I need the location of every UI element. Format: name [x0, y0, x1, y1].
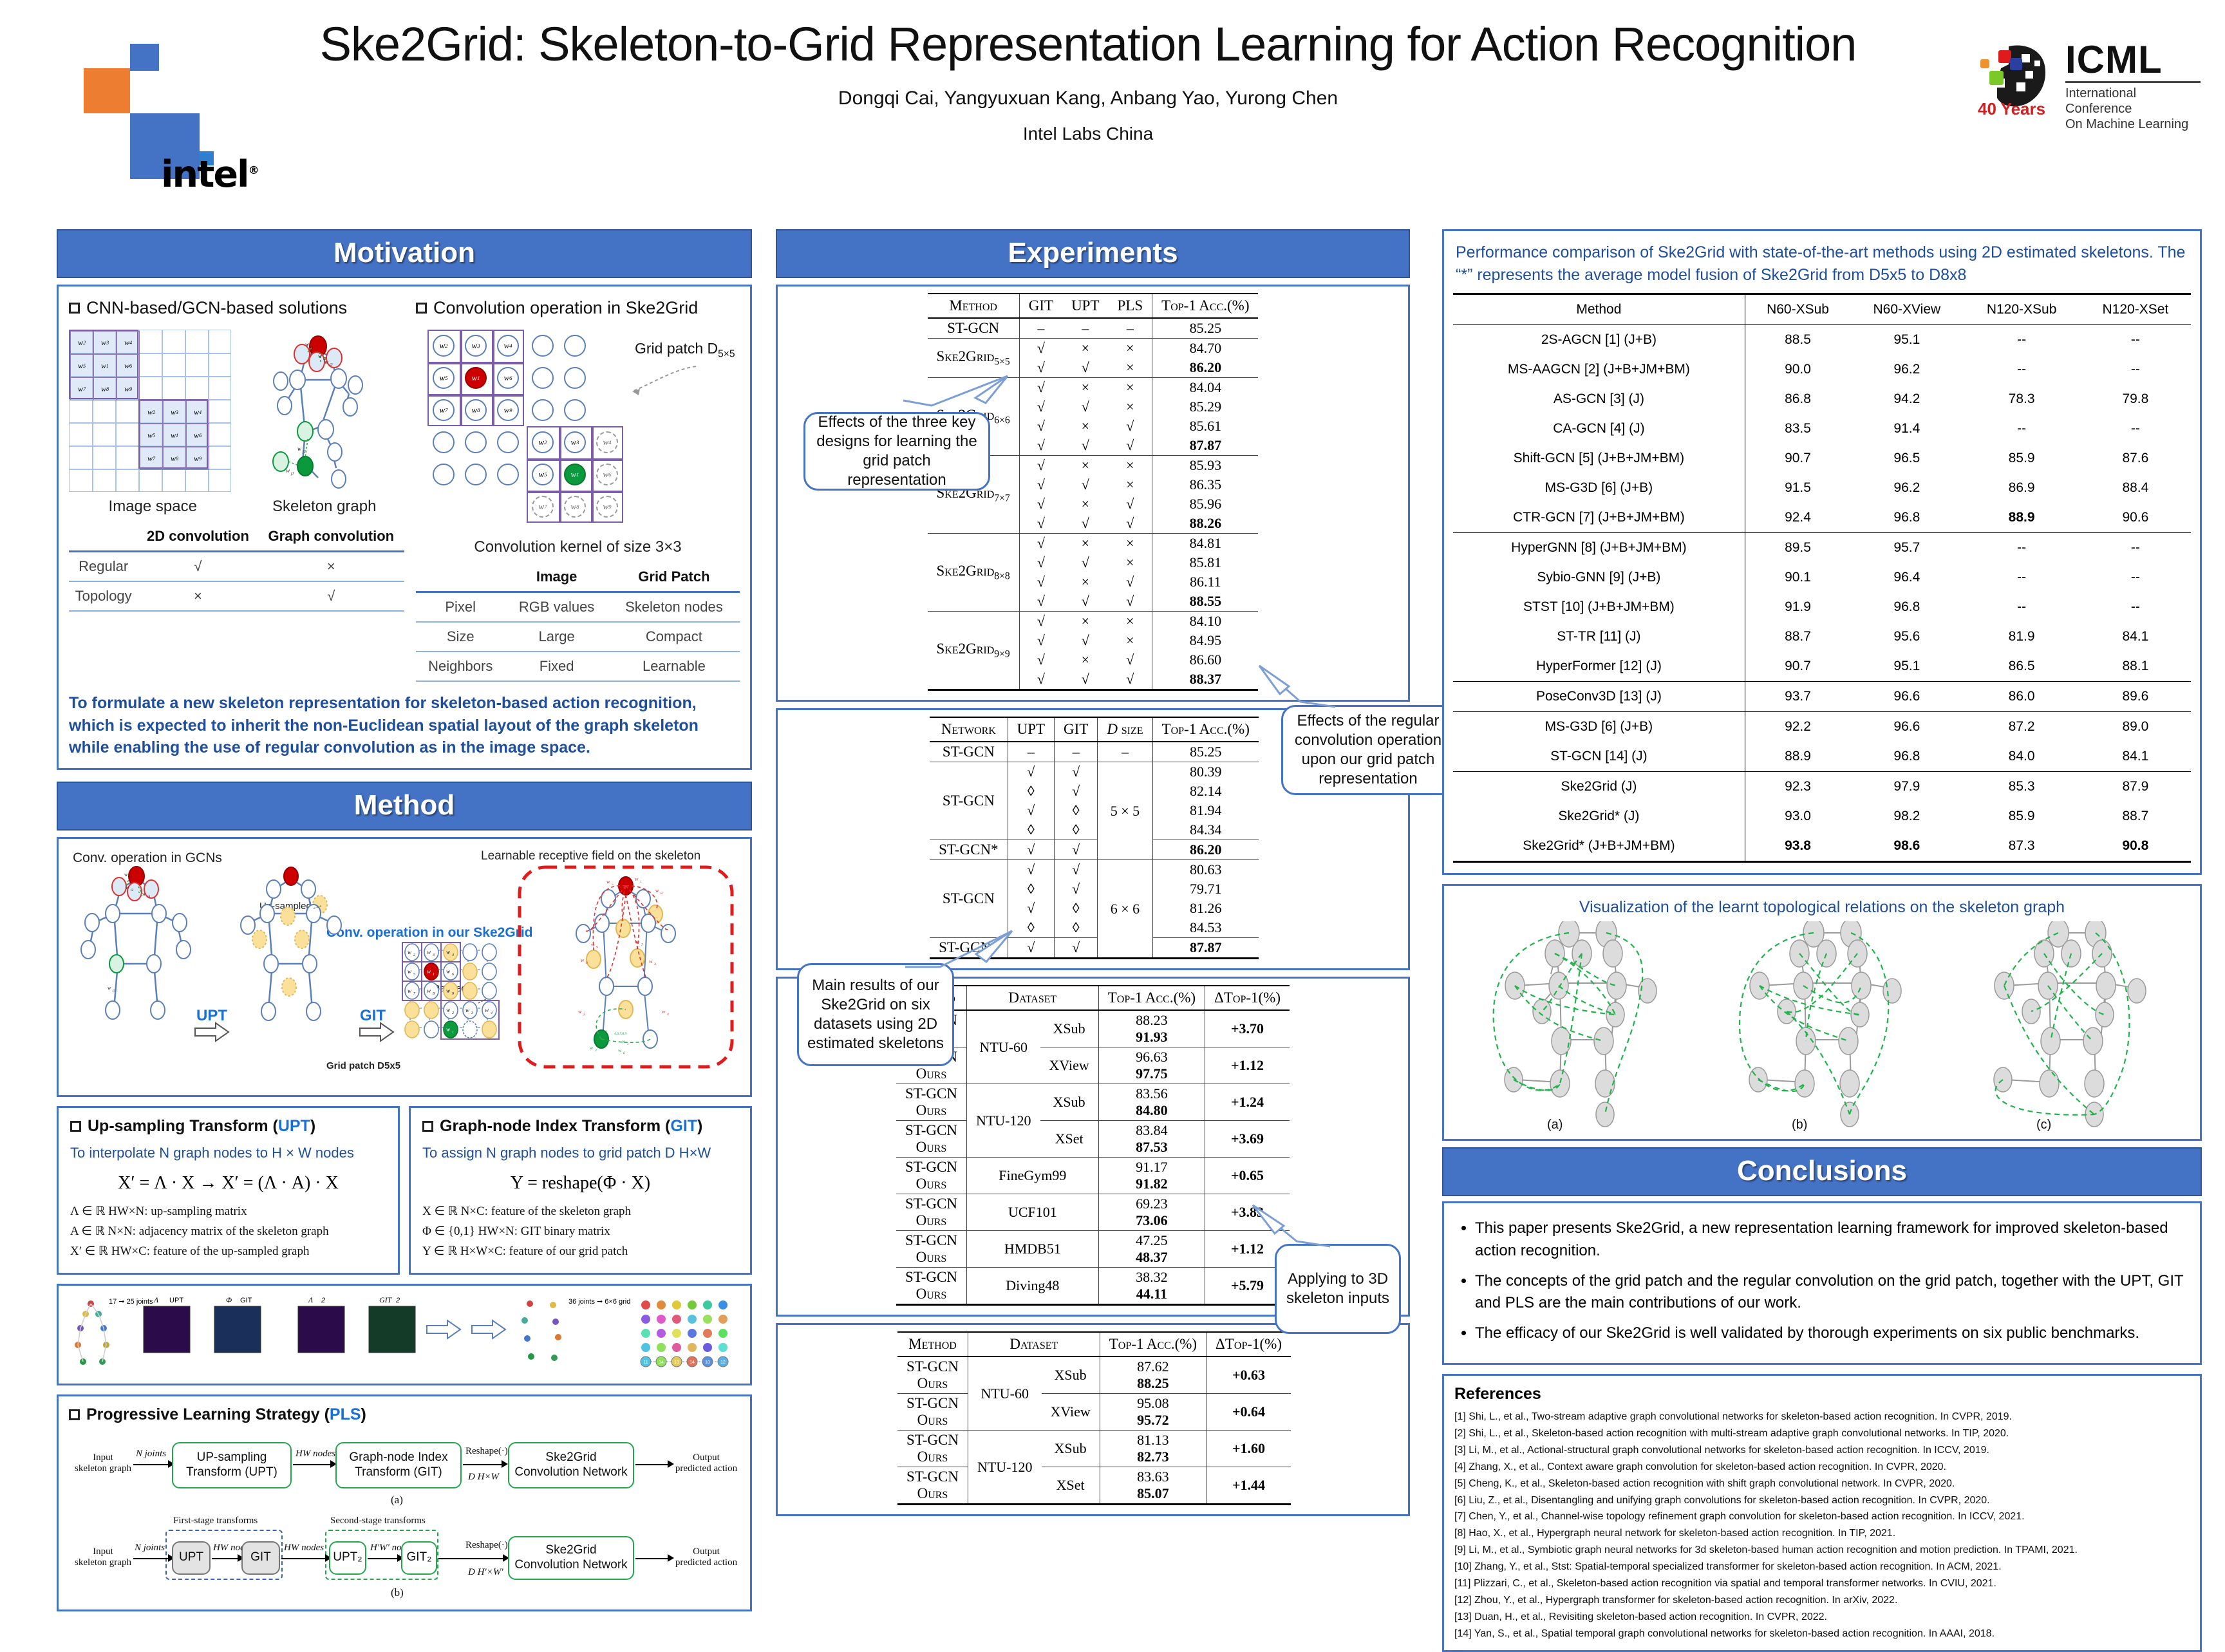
table-row: ST-GCNOursNTU-120XSub83.5684.80+1.24 — [896, 1084, 1290, 1121]
svg-text:w: w — [124, 872, 128, 878]
cell: Size — [416, 622, 505, 652]
svg-text:j2: j2 — [112, 989, 116, 993]
cell-acc: 85.25 — [1152, 318, 1259, 339]
cell-acc: 88.37 — [1152, 670, 1259, 689]
cell-value: 91.5 — [1745, 473, 1850, 503]
section-header-experiments: Experiments — [776, 229, 1410, 278]
cell-value: 95.1 — [1850, 652, 1963, 682]
svg-text:(b): (b) — [1792, 1118, 1807, 1132]
svg-text:w: w — [297, 446, 301, 452]
cell-git: √ — [1019, 475, 1062, 494]
cell-dataset: NTU-120 — [966, 1084, 1040, 1158]
right-column: Performance comparison of Ske2Grid with … — [1442, 229, 2202, 1652]
cell-network: ST-GCN — [930, 742, 1008, 762]
cell-acc: 84.53 — [1152, 918, 1259, 938]
experiments-table4-panel: MethodDatasetTop-1 Acc.(%)ΔTop-1(%)ST-GC… — [776, 1323, 1410, 1516]
sota-comparison-table: MethodN60-XSubN60-XViewN120-XSubN120-XSe… — [1453, 293, 2191, 863]
cell-upt: ◊ — [1008, 782, 1054, 801]
svg-text:w: w — [126, 885, 129, 890]
cell-value: -- — [2080, 533, 2191, 563]
cell-delta: +0.64 — [1206, 1394, 1291, 1431]
cell-value: 88.1 — [2080, 652, 2191, 682]
cell-value: 96.4 — [1850, 563, 1963, 592]
upt-def-0: Λ ∈ ℝ HW×N: up-sampling matrix — [70, 1204, 386, 1219]
cell-dsize: – — [1098, 742, 1152, 762]
pls-a-box-upt: UP-sampling Transform (UPT) — [172, 1442, 292, 1488]
cell-split: XSet — [1042, 1467, 1100, 1504]
grid-line — [492, 330, 494, 426]
svg-text:36 joints ➞ 6×6 grid: 36 joints ➞ 6×6 grid — [568, 1298, 630, 1306]
cell-delta: +1.44 — [1206, 1467, 1291, 1504]
motivation-panel: CNN-based/GCN-based solutions — [57, 285, 752, 770]
table-row: HyperFormer [12] (J)90.795.186.588.1 — [1453, 652, 2191, 682]
cell-value: 86.8 — [1745, 384, 1850, 414]
svg-text:6: 6 — [452, 973, 454, 977]
pls-b-input-1: Input — [93, 1546, 113, 1557]
cell-git: √ — [1019, 339, 1062, 359]
table-row: ST-GCN√√6 × 680.63 — [930, 860, 1259, 880]
cell-value: 96.6 — [1850, 682, 1963, 712]
svg-text:w: w — [622, 1038, 625, 1044]
motivation-left-half: CNN-based/GCN-based solutions — [69, 296, 404, 682]
table-row: 2S-AGCN [1] (J+B)88.595.1---- — [1453, 325, 2191, 355]
table-row: Size Large Compact — [416, 622, 740, 652]
svg-text:w: w — [636, 939, 640, 945]
icml-subtitle-line1: International Conference — [2065, 86, 2201, 117]
cell-acc: 79.71 — [1152, 879, 1259, 899]
svg-text:(c): (c) — [2036, 1118, 2051, 1132]
cell-upt: √ — [1008, 840, 1054, 860]
cell-pls: √ — [1109, 572, 1152, 592]
col-header-2dconv: 2D convolution — [138, 522, 258, 552]
svg-text:w: w — [286, 467, 290, 474]
pls-a-edge3a: Reshape(·) — [465, 1446, 508, 1457]
col-header-method: Method — [1453, 294, 1745, 325]
table-row: Pixel RGB values Skeleton nodes — [416, 592, 740, 623]
col-header-upt: UPT — [1062, 294, 1108, 318]
git-def-0: X ∈ ℝ N×C: feature of the skeleton graph — [422, 1204, 738, 1219]
regular-conv-table: NetworkUPTGITD sizeTop-1 Acc.(%)ST-GCN––… — [930, 717, 1259, 959]
cell-git: √ — [1019, 553, 1062, 572]
reference-item: [11] Plizzari, C., et al., Skeleton-base… — [1454, 1575, 2190, 1592]
square-bullet-icon — [422, 1121, 433, 1132]
upt-heading: Up-sampling Transform (UPT) — [70, 1117, 386, 1136]
cell-value: -- — [2080, 592, 2191, 622]
cell-value: 89.6 — [2080, 682, 2191, 712]
cell-value: 92.2 — [1745, 712, 1850, 742]
transform-strip-panel: 17 ➞ 25 joints Λ UPT Φ GIT Λ 2 GIT 2 — [57, 1284, 752, 1385]
svg-text:8: 8 — [433, 992, 435, 996]
cell-value: 93.7 — [1745, 682, 1850, 712]
pls-b-edge1: N joints — [135, 1543, 165, 1553]
left-column: Motivation CNN-based/GCN-based solutions — [57, 229, 752, 1611]
cell-value: 97.9 — [1850, 772, 1963, 802]
svg-text:17 ➞ 25 joints: 17 ➞ 25 joints — [109, 1298, 153, 1306]
grid-line — [527, 458, 623, 461]
svg-text:Λ: Λ — [153, 1295, 159, 1304]
cell-value: -- — [2080, 325, 2191, 355]
pls-b-output-1: Output — [693, 1546, 720, 1557]
table-row: Shift-GCN [5] (J+B+JM+BM)90.796.585.987.… — [1453, 444, 2191, 473]
table-header-row: MethodN60-XSubN60-XViewN120-XSubN120-XSe… — [1453, 294, 2191, 325]
cell-upt: × — [1062, 417, 1108, 436]
skeleton-svg: wi1 wi2 wi3 wj2 wj1 — [241, 330, 389, 492]
authors: Dongqi Cai, Yangyuxuan Kang, Anbang Yao,… — [219, 88, 1957, 109]
cell: Compact — [608, 622, 740, 652]
svg-text:w: w — [408, 988, 411, 994]
cell-git: √ — [1019, 456, 1062, 476]
cell-acc: 91.1791.82 — [1098, 1158, 1205, 1194]
cell-acc: 86.20 — [1152, 840, 1259, 860]
cell-delta: +0.63 — [1206, 1356, 1291, 1394]
cell-value: 96.8 — [1850, 592, 1963, 622]
cell-pls: × — [1109, 534, 1152, 554]
svg-text:5: 5 — [413, 973, 415, 977]
col-header-pls: PLS — [1109, 294, 1152, 318]
cell-acc: 81.94 — [1152, 801, 1259, 820]
grid-line — [527, 491, 623, 493]
svg-text:10: 10 — [705, 1360, 710, 1365]
page-title: Ske2Grid: Skeleton-to-Grid Representatio… — [219, 19, 1957, 70]
cell-method-baseline: ST-GCNOurs — [897, 1431, 968, 1467]
cell-upt: – — [1008, 742, 1054, 762]
cell-method: Ske2Grid8×8 — [928, 534, 1020, 612]
cell-value: 85.9 — [1963, 444, 2079, 473]
col-header-2: N60-XView — [1850, 294, 1963, 325]
square-bullet-icon — [69, 1409, 80, 1420]
cell-value: 96.6 — [1850, 712, 1963, 742]
reference-item: [13] Duan, H., et al., Revisiting skelet… — [1454, 1609, 2190, 1626]
cell-value: 93.0 — [1745, 802, 1850, 831]
svg-text:j2: j2 — [302, 450, 306, 454]
cell-upt: √ — [1008, 860, 1054, 880]
pls-a-edge3b: D H×W — [468, 1472, 499, 1483]
cell-value: -- — [1963, 592, 2079, 622]
cell-acc: 88.2391.93 — [1098, 1010, 1205, 1047]
section-header-method: Method — [57, 782, 752, 831]
cell-git: √ — [1055, 782, 1098, 801]
cell-upt: × — [1062, 339, 1108, 359]
pls-a-edge2: HW nodes — [296, 1449, 335, 1460]
grid-patch-annotation-sub: 5×5 — [718, 349, 735, 360]
col-header-acc: Top-1 Acc.(%) — [1152, 294, 1259, 318]
intel-logo: intel® — [61, 39, 209, 151]
cell-acc: 83.6385.07 — [1100, 1467, 1206, 1504]
cell-method: HyperGNN [8] (J+B+JM+BM) — [1453, 533, 1745, 563]
reference-item: [4] Zhang, X., et al., Context aware gra… — [1454, 1459, 2190, 1476]
cell-value: 96.5 — [1850, 444, 1963, 473]
cell-pls: – — [1109, 318, 1152, 339]
svg-text:w: w — [581, 957, 585, 963]
svg-text:1: 1 — [640, 880, 642, 884]
cell: Large — [505, 622, 608, 652]
cell-git: √ — [1019, 378, 1062, 398]
table-row: HyperGNN [8] (J+B+JM+BM)89.595.7---- — [1453, 533, 2191, 563]
svg-text:GIT: GIT — [360, 1007, 386, 1024]
pls-a-input-label-2: skeleton graph — [75, 1463, 131, 1474]
cell-value: 96.2 — [1850, 473, 1963, 503]
svg-text:2: 2 — [413, 953, 415, 957]
reference-item: [1] Shi, L., et al., Two-stream adaptive… — [1454, 1409, 2190, 1425]
svg-text:2: 2 — [321, 1297, 325, 1304]
table-row: Ske2Grid* (J+B+JM+BM)93.898.687.390.8 — [1453, 831, 2191, 861]
col-header-network: Network — [930, 717, 1008, 742]
pls-panel: Progressive Learning Strategy (PLS) Inpu… — [57, 1394, 752, 1611]
grid-patch-figure: w2 w3 w4 w1 w5 w6 w7 w8 w9 — [416, 324, 740, 537]
cell-method-baseline: ST-GCNOurs — [896, 1084, 966, 1121]
main-results-3d-table: MethodDatasetTop-1 Acc.(%)ΔTop-1(%)ST-GC… — [897, 1331, 1291, 1505]
cell-delta: +3.69 — [1205, 1121, 1290, 1158]
svg-text:4: 4 — [452, 953, 454, 957]
cell-upt: × — [1062, 494, 1108, 514]
cell: √ — [138, 552, 258, 582]
cell-value: 91.9 — [1745, 592, 1850, 622]
table-row: ST-GCN*√√86.20 — [930, 840, 1259, 860]
motivation-left-figures: w2 w3 w4 w5 w1 w6 w7 w8 w9 — [69, 324, 404, 516]
references-list: [1] Shi, L., et al., Two-stream adaptive… — [1454, 1409, 2190, 1642]
svg-text:3: 3 — [653, 962, 656, 966]
svg-text:9: 9 — [596, 946, 598, 950]
cell-acc: 84.10 — [1152, 612, 1259, 632]
cell-upt: √ — [1008, 762, 1054, 782]
cell-pls: × — [1109, 378, 1152, 398]
cell-value: 90.6 — [2080, 503, 2191, 533]
cell-delta: +1.60 — [1206, 1431, 1291, 1467]
cell-value: 90.7 — [1745, 444, 1850, 473]
cell-git: √ — [1055, 938, 1098, 958]
table-row: AS-GCN [3] (J)86.894.278.379.8 — [1453, 384, 2191, 414]
table-row: Ske2Grid9×9√××84.10 — [928, 612, 1259, 632]
svg-text:w: w — [635, 876, 639, 882]
cell: Fixed — [505, 652, 608, 681]
cell-git: √ — [1019, 417, 1062, 436]
col-header-delta: ΔTop-1(%) — [1206, 1332, 1291, 1356]
table-row: CA-GCN [4] (J)83.591.4---- — [1453, 414, 2191, 444]
cell-value: 98.2 — [1850, 802, 1963, 831]
icml-years-label: 40 Years — [1978, 99, 2045, 119]
cell: × — [258, 552, 404, 582]
cell-method: HyperFormer [12] (J) — [1453, 652, 1745, 682]
cell-value: 88.4 — [2080, 473, 2191, 503]
cell-pls: √ — [1109, 494, 1152, 514]
grid-line — [591, 426, 594, 523]
svg-text:4: 4 — [667, 1012, 669, 1017]
table-header-row: MethodDatasetTop-1 Acc.(%)ΔTop-1(%) — [896, 986, 1290, 1010]
svg-text:w: w — [427, 988, 431, 994]
col-header-blank — [416, 563, 505, 592]
reference-item: [14] Yan, S., et al., Spatial temporal g… — [1454, 1626, 2190, 1642]
col-header-git: GIT — [1055, 717, 1098, 742]
motivation-right-heading-text: Convolution operation in Ske2Grid — [433, 298, 698, 318]
svg-text:w: w — [485, 1007, 489, 1013]
list-item: The efficacy of our Ske2Grid is well val… — [1475, 1322, 2188, 1345]
cell-pls: √ — [1109, 592, 1152, 612]
cell: RGB values — [505, 592, 608, 623]
table-row: Ske2Grid* (J)93.098.285.988.7 — [1453, 802, 2191, 831]
section-header-motivation: Motivation — [57, 229, 752, 278]
pls-title-prefix: Progressive Learning Strategy ( — [86, 1405, 330, 1423]
grid-line — [460, 330, 462, 426]
svg-text:UPT: UPT — [169, 1297, 183, 1304]
git-def-2: Y ∈ ℝ H×W×C: feature of our grid patch — [422, 1244, 738, 1259]
cell-method-baseline: ST-GCNOurs — [896, 1231, 966, 1268]
reference-item: [5] Cheng, K., et al., Skeleton-based ac… — [1454, 1476, 2190, 1492]
col-header-upt: UPT — [1008, 717, 1054, 742]
cell-upt: ◊ — [1008, 820, 1054, 840]
svg-text:w: w — [427, 968, 431, 975]
svg-text:i3: i3 — [330, 363, 333, 367]
cell-value: 84.0 — [1963, 742, 2079, 772]
cell-upt: × — [1062, 650, 1108, 670]
cell-method-baseline: ST-GCNOurs — [897, 1394, 968, 1431]
cell: Neighbors — [416, 652, 505, 681]
callout-4-tail-icon — [1249, 1203, 1339, 1254]
cell: Regular — [69, 552, 138, 582]
cell-acc: 84.34 — [1152, 820, 1259, 840]
list-item: This paper presents Ske2Grid, a new repr… — [1475, 1217, 2188, 1262]
cell-git: ◊ — [1055, 918, 1098, 938]
cell: Pixel — [416, 592, 505, 623]
cell-value: -- — [2080, 563, 2191, 592]
grid-line — [559, 426, 561, 523]
pls-b-box-net: Ske2Grid Convolution Network — [508, 1536, 634, 1580]
pls-b-edge3: HW nodes — [284, 1543, 324, 1553]
git-def-1: Φ ∈ {0,1} HW×N: GIT binary matrix — [422, 1224, 738, 1239]
col-header-dataset: Dataset — [968, 1332, 1100, 1356]
cell-dataset: HMDB51 — [966, 1231, 1098, 1268]
cell-pls: × — [1109, 612, 1152, 632]
cell-value: 95.6 — [1850, 622, 1963, 652]
table-row: ST-GCNOursXView96.6397.75+1.12 — [896, 1047, 1290, 1084]
cell-acc: 85.93 — [1152, 456, 1259, 476]
cell-acc: 83.8487.53 — [1098, 1121, 1205, 1158]
git-box: Graph-node Index Transform (GIT) To assi… — [409, 1106, 752, 1275]
table-row: ST-GCNOursFineGym9991.1791.82+0.65 — [896, 1158, 1290, 1194]
cell-delta: +1.24 — [1205, 1084, 1290, 1121]
pls-a-box-git: Graph-node Index Transform (GIT) — [335, 1442, 462, 1488]
cell-value: 85.9 — [1963, 802, 2079, 831]
cell-value: 88.7 — [1745, 622, 1850, 652]
references-heading: References — [1454, 1385, 2190, 1403]
callout-three-key-designs: Effects of the three key designs for lea… — [803, 412, 990, 491]
cell-acc: 80.39 — [1152, 762, 1259, 782]
cell-method: Shift-GCN [5] (J+B+JM+BM) — [1453, 444, 1745, 473]
svg-text:1: 1 — [627, 1042, 629, 1046]
table-row: ST-GCNOursUCF10169.2373.06+3.83 — [896, 1194, 1290, 1231]
col-header-method: Method — [897, 1332, 968, 1356]
col-header-git: GIT — [1019, 294, 1062, 318]
cell-dsize: 5 × 5 — [1098, 762, 1152, 860]
cell-value: -- — [2080, 355, 2191, 384]
cell-dataset: UCF101 — [966, 1194, 1098, 1231]
svg-text:Λ: Λ — [308, 1295, 314, 1304]
svg-text:w: w — [446, 1026, 450, 1033]
cell-value: 84.1 — [2080, 622, 2191, 652]
intel-wordmark: intel® — [161, 153, 258, 196]
table-row: Ske2Grid (J)92.397.985.387.9 — [1453, 772, 2191, 802]
motivation-columns: CNN-based/GCN-based solutions — [69, 296, 740, 682]
reference-item: [6] Liu, Z., et al., Disentangling and u… — [1454, 1492, 2190, 1509]
pls-a-output-1: Output — [693, 1452, 720, 1463]
cell-method-baseline: ST-GCNOurs — [897, 1356, 968, 1394]
cell-git: √ — [1019, 358, 1062, 378]
col-header-1: N60-XSub — [1745, 294, 1850, 325]
cell-value: 89.0 — [2080, 712, 2191, 742]
cell-git: √ — [1019, 572, 1062, 592]
cell-value: 98.6 — [1850, 831, 1963, 861]
cell-network: ST-GCN — [930, 860, 1008, 938]
cell-acc: 82.14 — [1152, 782, 1259, 801]
cell-upt: √ — [1062, 397, 1108, 417]
cell-pls: √ — [1109, 514, 1152, 534]
svg-text:w: w — [618, 1047, 621, 1053]
conclusions-list: This paper presents Ske2Grid, a new repr… — [1458, 1217, 2188, 1345]
cell-git: √ — [1019, 612, 1062, 632]
svg-text:w: w — [408, 949, 411, 955]
git-title-accent: GIT — [670, 1117, 697, 1135]
cell-split: XSub — [1042, 1356, 1100, 1394]
table-row: Regular √ × — [69, 552, 404, 582]
svg-text:Φ: Φ — [226, 1295, 232, 1304]
kernel-patch-bottom: w2 w3 w4 w5 w1 w6 w7 w8 w9 — [138, 399, 208, 469]
svg-text:i1: i1 — [129, 876, 133, 879]
svg-text:w: w — [408, 968, 411, 975]
table-bottom-rule — [896, 1304, 1290, 1305]
cell-upt: ◊ — [1008, 879, 1054, 899]
cell-delta: +0.65 — [1205, 1158, 1290, 1194]
cell-value: 78.3 — [1963, 384, 2079, 414]
cell-value: 88.7 — [2080, 802, 2191, 831]
transform-strip: 17 ➞ 25 joints Λ UPT Φ GIT Λ 2 GIT 2 — [66, 1295, 742, 1378]
svg-text:1: 1 — [452, 1031, 454, 1035]
cell-value: 89.5 — [1745, 533, 1850, 563]
pls-title-accent: PLS — [330, 1405, 361, 1423]
table-bottom-rule — [928, 689, 1259, 690]
icml-subtitle-line2: On Machine Learning — [2065, 117, 2201, 132]
cell-method: ST-GCN — [928, 318, 1020, 339]
table-row: ST-GCNOursHMDB5147.2548.37+1.12 — [896, 1231, 1290, 1268]
upt-subtitle: To interpolate N graph nodes to H × W no… — [70, 1145, 386, 1161]
table-row: ST-GCNOursXSet83.6385.07+1.44 — [897, 1467, 1291, 1504]
cell-value: 95.1 — [1850, 325, 1963, 355]
col-header-graphconv: Graph convolution — [258, 522, 404, 552]
cell-value: -- — [1963, 563, 2079, 592]
kernel-patch-top: w2 w3 w4 w5 w1 w6 w7 w8 w9 — [69, 330, 138, 399]
cell-split: XSub — [1042, 1431, 1100, 1467]
cell: Topology — [69, 581, 138, 611]
cell-acc: 87.87 — [1152, 938, 1259, 958]
cell-value: 90.1 — [1745, 563, 1850, 592]
cell-upt: × — [1062, 378, 1108, 398]
cell-acc: 86.20 — [1152, 358, 1259, 378]
cell-method: 2S-AGCN [1] (J+B) — [1453, 325, 1745, 355]
reference-item: [3] Li, M., et al., Actional-structural … — [1454, 1442, 2190, 1459]
cell-dataset: NTU-60 — [968, 1356, 1041, 1431]
svg-text:2: 2 — [452, 1011, 454, 1015]
cell-git: √ — [1019, 534, 1062, 554]
cell-value: 96.8 — [1850, 503, 1963, 533]
cell-split: XView — [1042, 1394, 1100, 1431]
cell-value: -- — [1963, 325, 2079, 355]
svg-text:(a): (a) — [1547, 1118, 1563, 1132]
cell-dataset: NTU-120 — [968, 1431, 1041, 1504]
table-row: PoseConv3D [13] (J)93.796.686.089.6 — [1453, 682, 2191, 712]
motivation-right-table: Image Grid Patch Pixel RGB values Skelet… — [416, 563, 740, 682]
cell-method-baseline: ST-GCNOurs — [897, 1467, 968, 1504]
upt-title-prefix: Up-sampling Transform ( — [88, 1117, 278, 1135]
image-space-grid: w2 w3 w4 w5 w1 w6 w7 w8 w9 — [69, 330, 262, 494]
cell-value: 87.3 — [1963, 831, 2079, 861]
